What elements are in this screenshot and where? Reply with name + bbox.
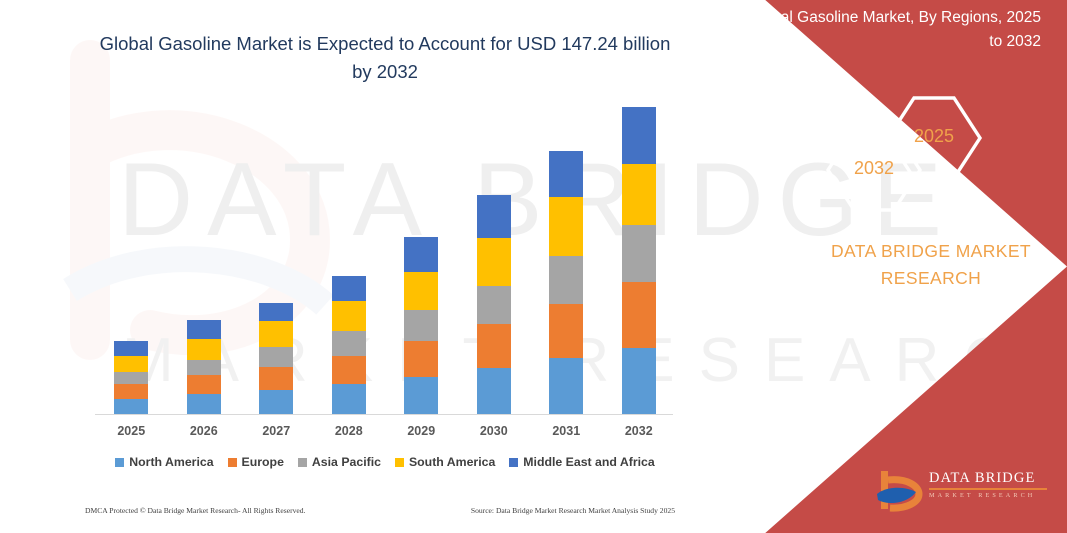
bar-segment[interactable] (404, 310, 438, 341)
stacked-bar[interactable] (259, 303, 293, 414)
x-axis-label-2032: 2032 (603, 424, 675, 444)
chart-legend: North AmericaEuropeAsia PacificSouth Ame… (95, 455, 675, 469)
company-logo: DATA BRIDGE MARKET RESEARCH (875, 466, 1047, 514)
stacked-bar[interactable] (549, 151, 583, 414)
bar-group (95, 100, 675, 414)
stacked-bar[interactable] (404, 237, 438, 414)
x-axis-labels: 20252026202720282029203020312032 (95, 424, 675, 444)
panel-title: Global Gasoline Market, By Regions, 2025… (741, 6, 1041, 54)
bar-column-2029 (385, 100, 457, 414)
bar-segment[interactable] (259, 347, 293, 367)
stacked-bar[interactable] (187, 320, 221, 414)
bar-segment[interactable] (332, 384, 366, 414)
legend-item-europe[interactable]: Europe (228, 455, 284, 469)
legend-item-north-america[interactable]: North America (115, 455, 213, 469)
bar-segment[interactable] (114, 372, 148, 384)
x-axis-label-2026: 2026 (168, 424, 240, 444)
bar-segment[interactable] (332, 356, 366, 385)
bar-segment[interactable] (622, 225, 656, 282)
legend-label: South America (409, 455, 495, 469)
hexagon-badges: 2025 2032 (826, 96, 986, 204)
legend-label: Middle East and Africa (523, 455, 654, 469)
footer-copyright: DMCA Protected © Data Bridge Market Rese… (85, 506, 305, 515)
legend-swatch-icon (115, 458, 124, 467)
bar-segment[interactable] (187, 339, 221, 360)
legend-label: Europe (242, 455, 284, 469)
bar-segment[interactable] (477, 238, 511, 286)
logo-line-1: DATA BRIDGE (929, 470, 1049, 487)
bar-segment[interactable] (477, 286, 511, 323)
bar-segment[interactable] (114, 356, 148, 373)
x-axis-label-2025: 2025 (95, 424, 167, 444)
bar-segment[interactable] (259, 321, 293, 346)
bar-segment[interactable] (114, 384, 148, 398)
legend-item-south-america[interactable]: South America (395, 455, 495, 469)
infographic-canvas: DATA BRIDGE MARKET RESEARCH Global Gasol… (0, 0, 1067, 533)
bar-segment[interactable] (622, 164, 656, 225)
x-axis-label-2027: 2027 (240, 424, 312, 444)
x-axis-line (95, 414, 673, 415)
stacked-bar[interactable] (622, 107, 656, 414)
legend-swatch-icon (298, 458, 307, 467)
bar-segment[interactable] (477, 195, 511, 238)
bar-segment[interactable] (187, 375, 221, 394)
data-bridge-logo-icon (875, 468, 923, 512)
legend-label: Asia Pacific (312, 455, 381, 469)
bar-segment[interactable] (404, 272, 438, 311)
logo-divider (929, 488, 1047, 489)
bar-segment[interactable] (404, 377, 438, 414)
chart-title: Global Gasoline Market is Expected to Ac… (90, 30, 680, 86)
hex-2032: 2032 (826, 128, 922, 212)
brand-name: DATA BRIDGE MARKET RESEARCH (800, 238, 1062, 292)
legend-item-middle-east-and-africa[interactable]: Middle East and Africa (509, 455, 654, 469)
legend-swatch-icon (509, 458, 518, 467)
bar-segment[interactable] (259, 303, 293, 322)
x-axis-label-2029: 2029 (385, 424, 457, 444)
bar-segment[interactable] (622, 282, 656, 348)
bar-segment[interactable] (187, 394, 221, 414)
bar-column-2032 (603, 100, 675, 414)
x-axis-label-2031: 2031 (530, 424, 602, 444)
footer-source: Source: Data Bridge Market Research Mark… (471, 506, 675, 515)
bar-segment[interactable] (187, 320, 221, 339)
bar-column-2031 (530, 100, 602, 414)
bar-column-2026 (168, 100, 240, 414)
bar-segment[interactable] (549, 197, 583, 256)
bar-segment[interactable] (259, 367, 293, 390)
bar-segment[interactable] (187, 360, 221, 375)
bar-segment[interactable] (332, 301, 366, 332)
x-axis-label-2030: 2030 (458, 424, 530, 444)
bar-segment[interactable] (549, 304, 583, 358)
legend-swatch-icon (228, 458, 237, 467)
hex-2032-label: 2032 (826, 158, 922, 179)
chart-plot-area (95, 100, 675, 415)
bar-segment[interactable] (114, 399, 148, 414)
bar-column-2028 (313, 100, 385, 414)
bar-segment[interactable] (114, 341, 148, 355)
logo-text: DATA BRIDGE MARKET RESEARCH (929, 470, 1049, 499)
bar-segment[interactable] (404, 341, 438, 376)
bar-column-2030 (458, 100, 530, 414)
bar-segment[interactable] (259, 390, 293, 414)
stacked-bar[interactable] (477, 195, 511, 414)
stacked-bar[interactable] (332, 276, 366, 414)
bar-segment[interactable] (332, 331, 366, 355)
bar-segment[interactable] (622, 107, 656, 164)
bar-segment[interactable] (622, 348, 656, 414)
bar-segment[interactable] (549, 151, 583, 197)
bar-segment[interactable] (404, 237, 438, 272)
bar-segment[interactable] (332, 276, 366, 300)
logo-line-2: MARKET RESEARCH (929, 492, 1049, 499)
legend-swatch-icon (395, 458, 404, 467)
x-axis-label-2028: 2028 (313, 424, 385, 444)
bar-segment[interactable] (549, 358, 583, 414)
bar-segment[interactable] (549, 256, 583, 303)
bar-column-2025 (95, 100, 167, 414)
stacked-bar[interactable] (114, 341, 148, 414)
bar-segment[interactable] (477, 324, 511, 368)
legend-label: North America (129, 455, 213, 469)
bar-column-2027 (240, 100, 312, 414)
legend-item-asia-pacific[interactable]: Asia Pacific (298, 455, 381, 469)
footer: DMCA Protected © Data Bridge Market Rese… (85, 506, 675, 515)
bar-segment[interactable] (477, 368, 511, 414)
